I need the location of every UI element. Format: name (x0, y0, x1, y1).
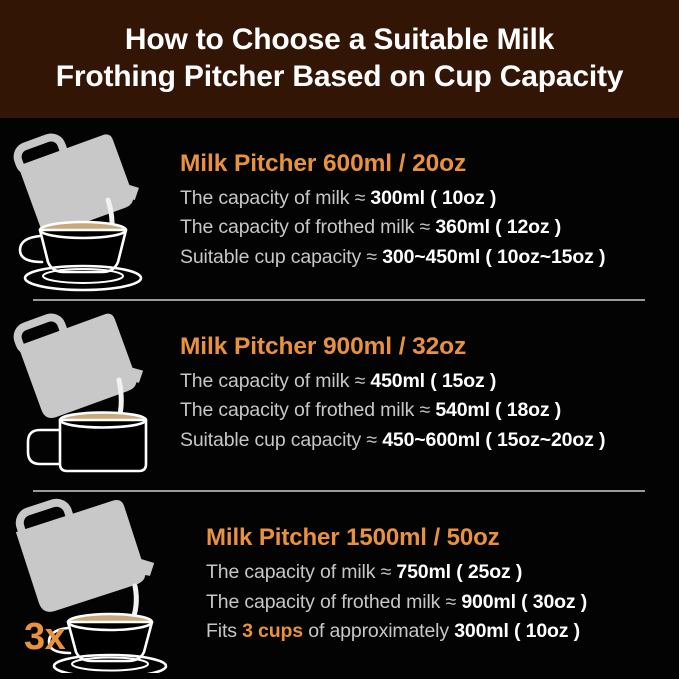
illustration-pitcher-pouring-into-mug (0, 308, 168, 480)
spec-line-fits-cups-1500: Fits 3 cups of approximately 300ml ( 10o… (206, 617, 580, 647)
text-block-600ml: Milk Pitcher 600ml / 20oz The capacity o… (168, 150, 679, 273)
spec-line-milk-capacity-900: The capacity of milk ≈ 450ml ( 15oz ) (180, 367, 496, 397)
spec-value: 300ml ( 10oz ) (370, 187, 496, 209)
spec-label-2: of approximately (303, 620, 454, 642)
header-band: How to Choose a Suitable Milk Frothing P… (0, 0, 679, 118)
infographic-root: How to Choose a Suitable Milk Frothing P… (0, 0, 679, 679)
section-divider-2 (33, 490, 645, 492)
spec-label: The capacity of milk ≈ (206, 561, 396, 583)
spec-value: 300ml ( 10oz ) (454, 620, 580, 642)
illustration-pitcher-pouring-into-cup-and-saucer (0, 126, 168, 296)
multiplier-badge-3x: 3x (24, 616, 65, 659)
spec-value: 750ml ( 25oz ) (396, 561, 522, 583)
spec-label: The capacity of milk ≈ (180, 370, 370, 392)
spec-label: Fits (206, 620, 242, 642)
spec-value: 450ml ( 15oz ) (370, 370, 496, 392)
pitcher-title-600ml: Milk Pitcher 600ml / 20oz (180, 150, 466, 178)
spec-line-milk-capacity-1500: The capacity of milk ≈ 750ml ( 25oz ) (206, 558, 522, 588)
spec-line-frothed-capacity-900: The capacity of frothed milk ≈ 540ml ( 1… (180, 396, 561, 426)
spec-line-frothed-capacity-1500: The capacity of frothed milk ≈ 900ml ( 3… (206, 588, 587, 618)
pitcher-title-900ml: Milk Pitcher 900ml / 32oz (180, 333, 466, 361)
spec-value: 900ml ( 30oz ) (461, 591, 587, 613)
spec-value: 540ml ( 18oz ) (435, 399, 561, 421)
spec-line-milk-capacity-600: The capacity of milk ≈ 300ml ( 10oz ) (180, 184, 496, 214)
pitcher-title-1500ml: Milk Pitcher 1500ml / 50oz (206, 524, 500, 552)
spec-label: Suitable cup capacity ≈ (180, 429, 382, 451)
spec-label: The capacity of frothed milk ≈ (206, 591, 461, 613)
pitcher-section-600ml: Milk Pitcher 600ml / 20oz The capacity o… (0, 126, 679, 296)
spec-label: The capacity of frothed milk ≈ (180, 216, 435, 238)
text-block-900ml: Milk Pitcher 900ml / 32oz The capacity o… (168, 333, 679, 456)
page-title: How to Choose a Suitable Milk Frothing P… (56, 22, 623, 95)
pitcher-section-900ml: Milk Pitcher 900ml / 32oz The capacity o… (0, 308, 679, 480)
spec-value: 450~600ml ( 15oz~20oz ) (382, 429, 605, 451)
pitcher-section-1500ml: Milk Pitcher 1500ml / 50oz The capacity … (0, 498, 679, 673)
spec-line-frothed-capacity-600: The capacity of frothed milk ≈ 360ml ( 1… (180, 213, 561, 243)
spec-line-suitable-cup-900: Suitable cup capacity ≈ 450~600ml ( 15oz… (180, 426, 605, 456)
section-divider-1 (33, 299, 645, 301)
spec-line-suitable-cup-600: Suitable cup capacity ≈ 300~450ml ( 10oz… (180, 243, 605, 273)
pitcher-cup-saucer-icon (0, 126, 168, 296)
spec-value: 360ml ( 12oz ) (435, 216, 561, 238)
text-block-1500ml: Milk Pitcher 1500ml / 50oz The capacity … (168, 524, 679, 647)
spec-label: The capacity of frothed milk ≈ (180, 399, 435, 421)
pitcher-mug-icon (0, 308, 168, 480)
spec-label: The capacity of milk ≈ (180, 187, 370, 209)
spec-highlight-cups: 3 cups (242, 620, 303, 642)
spec-label: Suitable cup capacity ≈ (180, 246, 382, 268)
spec-value: 300~450ml ( 10oz~15oz ) (382, 246, 605, 268)
